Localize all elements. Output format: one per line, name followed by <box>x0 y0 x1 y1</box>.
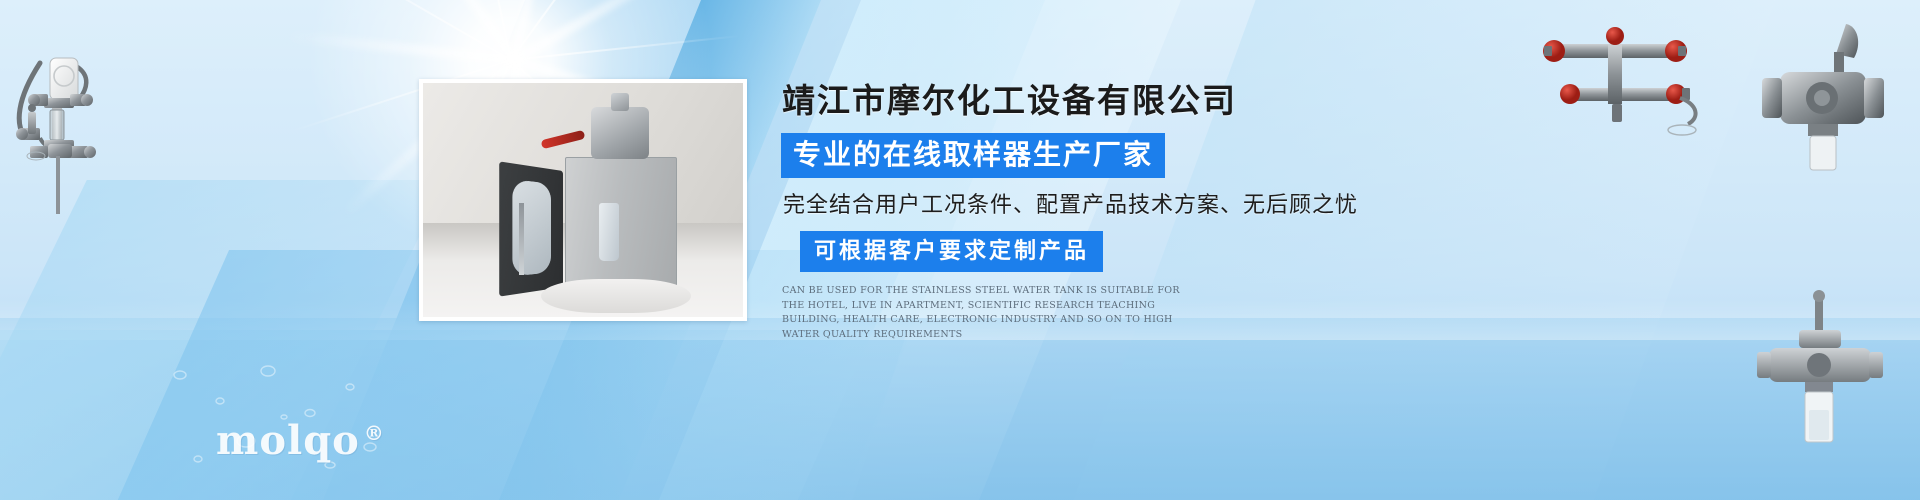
custom-order-badge[interactable]: 可根据客户要求定制产品 <box>800 231 1103 272</box>
photo-sample-bottle <box>599 203 619 261</box>
company-title: 靖江市摩尔化工设备有限公司 <box>782 84 1475 117</box>
headline-badge: 专业的在线取样器生产厂家 <box>781 133 1165 178</box>
photo-tube <box>519 203 524 275</box>
cross-valve-manifold-icon <box>1530 20 1720 150</box>
photo-cabinet <box>565 157 677 287</box>
water-streak <box>0 330 908 500</box>
banner-text-block: 靖江市摩尔化工设备有限公司 专业的在线取样器生产厂家 完全结合用户工况条件、配置… <box>775 70 1475 343</box>
photo-valve-head <box>591 107 649 159</box>
photo-stand <box>541 279 691 313</box>
promo-banner: 靖江市摩尔化工设备有限公司 专业的在线取样器生产厂家 完全结合用户工况条件、配置… <box>0 0 1920 500</box>
subheadline-text: 完全结合用户工况条件、配置产品技术方案、无后顾之忧 <box>783 194 1358 216</box>
watermark-text: molqo <box>216 417 360 464</box>
photo-cabinet-door <box>499 161 563 296</box>
sampling-cabinet-photo <box>419 79 747 321</box>
product-photo-inner <box>423 83 743 317</box>
flanged-valve-body-icon <box>1750 20 1900 180</box>
sampler-assembly-icon <box>10 28 190 318</box>
inline-sampler-valve-icon <box>1755 290 1885 460</box>
brand-watermark: molqo® <box>216 417 385 464</box>
registered-mark-icon: ® <box>364 421 385 445</box>
english-description: CAN BE USED FOR THE STAINLESS STEEL WATE… <box>782 284 1202 343</box>
